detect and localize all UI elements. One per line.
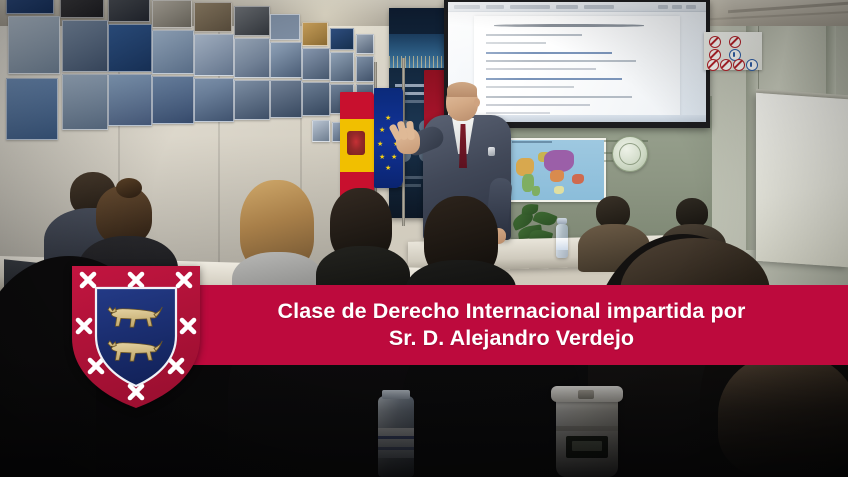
no-food-icon: [720, 59, 732, 71]
safety-sign: [704, 32, 762, 70]
banner-line-1: Clase de Derecho Internacional impartida…: [278, 298, 746, 325]
presenter-ear: [474, 98, 480, 107]
no-smoking-icon: [709, 36, 721, 48]
information-icon-2: [746, 59, 758, 71]
coat-of-arms-shield: [68, 264, 204, 410]
flipchart-board: [756, 93, 848, 267]
video-frame: ★ ★ ★ ★ ★ ★ ★ ★: [0, 0, 848, 477]
no-entry-icon: [707, 59, 719, 71]
no-fire-icon: [729, 36, 741, 48]
banner-line-2: Sr. D. Alejandro Verdejo: [389, 325, 634, 352]
institutional-seal: [612, 136, 648, 172]
spain-coat-of-arms: [347, 131, 365, 155]
banner-text: Clase de Derecho Internacional impartida…: [175, 285, 848, 365]
lower-third-banner: Clase de Derecho Internacional impartida…: [175, 285, 848, 365]
world-map-poster: [508, 138, 606, 202]
flag-spain: [340, 92, 374, 200]
projection-screen: [448, 2, 706, 122]
photo-exhibition-wall: [0, 0, 356, 200]
no-photo-icon: [733, 59, 745, 71]
presenter-hair: [447, 82, 477, 97]
presenter-lapel-pin: [488, 147, 495, 156]
